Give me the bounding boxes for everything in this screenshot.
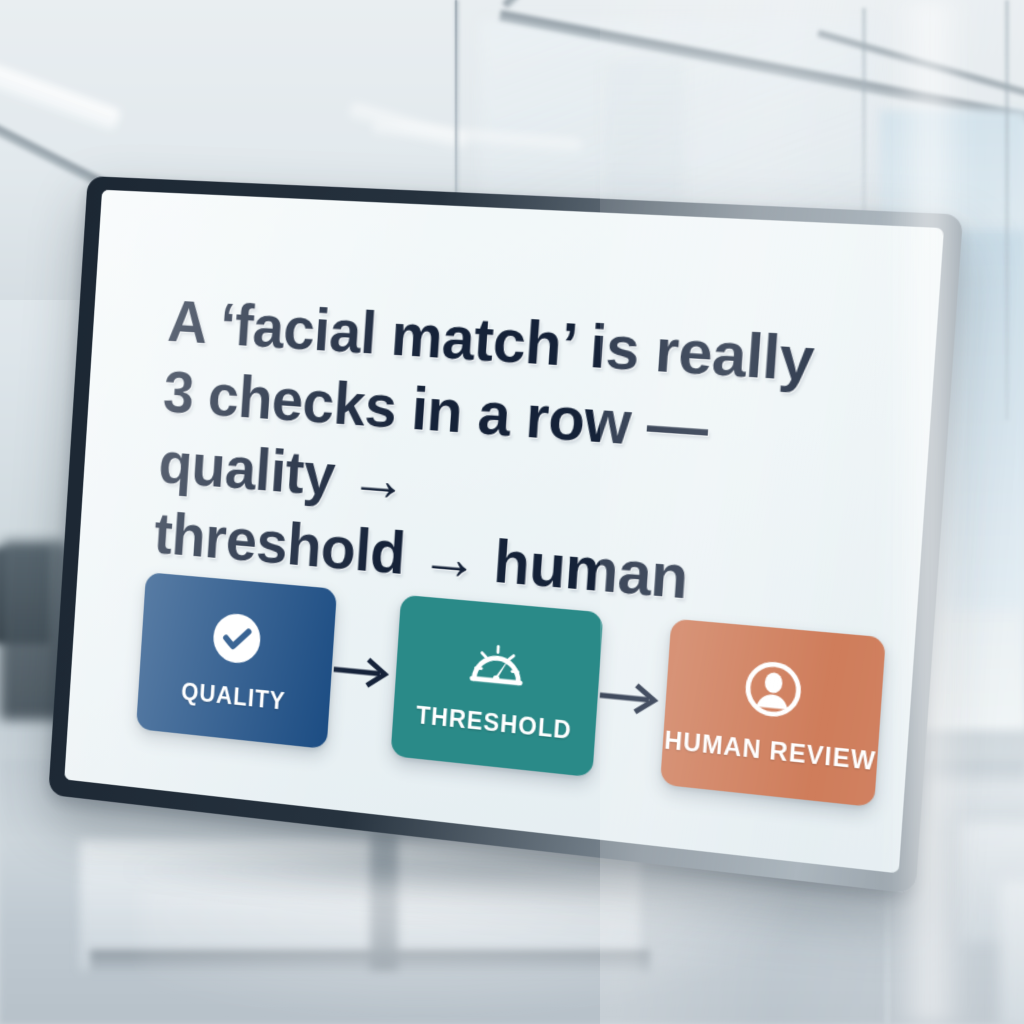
display-panel-container: A ‘facial match’ is really 3 checks in a…: [0, 0, 1024, 1024]
flow-step-quality[interactable]: QUALITY: [136, 572, 337, 749]
person-circle-icon: [741, 656, 806, 722]
flow-step-label: QUALITY: [180, 677, 286, 715]
flow-connector-arrow-2: [597, 677, 667, 720]
flow-connector-arrow-1: [331, 652, 397, 693]
display-panel: A ‘facial match’ is really 3 checks in a…: [48, 176, 963, 894]
flow-step-label: THRESHOLD: [415, 701, 573, 745]
gauge-icon: [467, 631, 529, 695]
display-bezel: A ‘facial match’ is really 3 checks in a…: [48, 176, 963, 894]
flow-step-threshold[interactable]: THRESHOLD: [390, 595, 603, 778]
arrow-right-icon: [332, 654, 396, 691]
check-circle-icon: [208, 607, 266, 669]
display-screen-frame: A ‘facial match’ is really 3 checks in a…: [64, 190, 944, 874]
process-flow-diagram: QUALITY: [135, 564, 886, 816]
display-screen: A ‘facial match’ is really 3 checks in a…: [64, 190, 944, 874]
flow-step-human-review[interactable]: HUMAN REVIEW: [660, 619, 886, 808]
screen-glare: [64, 190, 597, 874]
scene-stage: A ‘facial match’ is really 3 checks in a…: [0, 0, 1024, 1024]
glass-glare-highlight: [890, 0, 970, 1024]
arrow-right-icon: [598, 679, 666, 717]
headline-text: A ‘facial match’ is really 3 checks in a…: [148, 286, 897, 708]
flow-step-label: HUMAN REVIEW: [663, 726, 876, 776]
